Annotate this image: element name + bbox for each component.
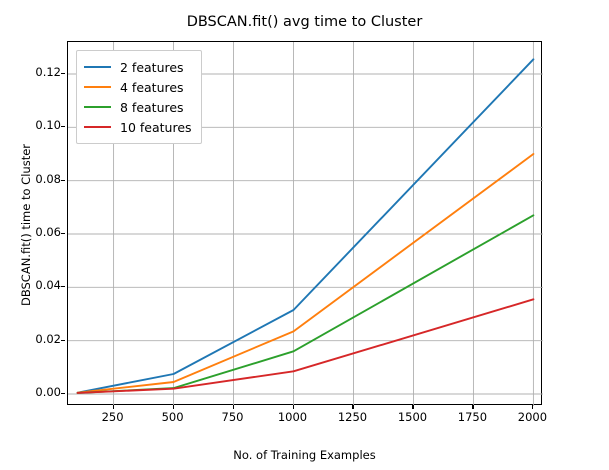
x-axis-label: No. of Training Examples <box>67 448 542 462</box>
y-tick-label: 0.04 <box>17 280 61 292</box>
y-tick-mark <box>61 233 65 234</box>
y-tick-mark <box>61 73 65 74</box>
x-tick-label: 1500 <box>382 412 442 424</box>
x-tick-label: 500 <box>143 412 203 424</box>
y-axis-tick-labels: 0.000.020.040.060.080.100.12 <box>11 41 61 405</box>
y-tick-mark <box>61 180 65 181</box>
y-tick-mark <box>61 126 65 127</box>
x-tick-mark <box>412 405 413 409</box>
y-tick-mark <box>61 286 65 287</box>
x-tick-mark <box>233 405 234 409</box>
x-tick-label: 1250 <box>322 412 382 424</box>
legend-label: 2 features <box>120 60 184 75</box>
legend-color-swatch <box>84 66 111 68</box>
y-tick-label: 0.08 <box>17 174 61 186</box>
y-tick-label: 0.00 <box>17 387 61 399</box>
chart-title: DBSCAN.fit() avg time to Cluster <box>0 14 609 30</box>
y-tick-label: 0.06 <box>17 227 61 239</box>
x-tick-mark <box>532 405 533 409</box>
x-tick-label: 250 <box>83 412 143 424</box>
y-tick-mark <box>61 340 65 341</box>
x-tick-mark <box>352 405 353 409</box>
y-tick-label: 0.12 <box>17 67 61 79</box>
figure-canvas: DBSCAN.fit() avg time to Cluster DBSCAN.… <box>0 0 609 470</box>
legend-color-swatch <box>84 126 111 128</box>
legend-color-swatch <box>84 106 111 108</box>
x-tick-label: 2000 <box>502 412 562 424</box>
legend-color-swatch <box>84 86 111 88</box>
y-tick-mark <box>61 393 65 394</box>
legend-item: 8 features <box>84 97 192 117</box>
legend-label: 10 features <box>120 120 192 135</box>
x-tick-label: 1000 <box>263 412 323 424</box>
y-tick-label: 0.02 <box>17 334 61 346</box>
x-axis-tick-labels: 25050075010001250150017502000 <box>67 412 542 432</box>
legend-label: 8 features <box>120 100 184 115</box>
x-tick-mark <box>173 405 174 409</box>
x-tick-mark <box>293 405 294 409</box>
x-tick-mark <box>113 405 114 409</box>
legend-label: 4 features <box>120 80 184 95</box>
x-tick-label: 1750 <box>442 412 502 424</box>
x-tick-label: 750 <box>203 412 263 424</box>
legend-item: 4 features <box>84 77 192 97</box>
x-tick-mark <box>472 405 473 409</box>
legend-item: 2 features <box>84 57 192 77</box>
y-tick-label: 0.10 <box>17 120 61 132</box>
legend-item: 10 features <box>84 117 192 137</box>
chart-legend: 2 features4 features8 features10 feature… <box>76 50 202 144</box>
